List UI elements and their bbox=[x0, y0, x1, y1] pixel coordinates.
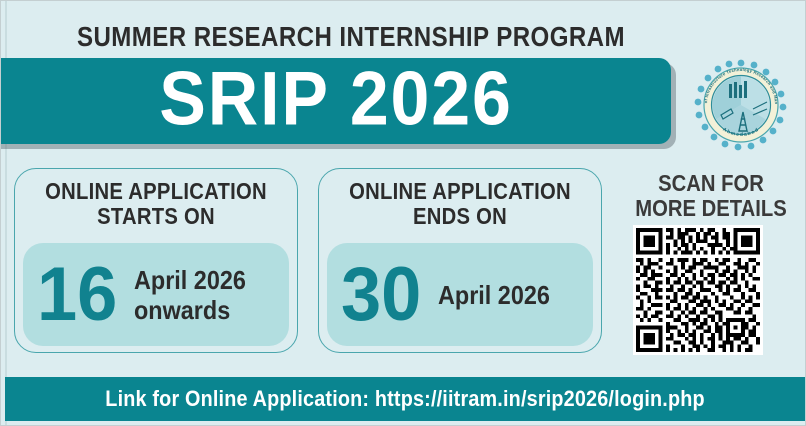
application-end-date-panel: 30 April 2026 bbox=[327, 243, 593, 346]
scan-for-details-label: SCAN FOR MORE DETAILS bbox=[630, 171, 792, 221]
application-end-heading: ONLINE APPLICATION ENDS ON bbox=[345, 179, 576, 229]
application-start-date-panel: 16 April 2026 onwards bbox=[23, 243, 289, 346]
srip-banner: SRIP 2026 bbox=[0, 58, 671, 144]
application-start-month-year: April 2026 onwards bbox=[134, 265, 246, 325]
footer-bar: Link for Online Application: https://iit… bbox=[5, 377, 805, 421]
page-title: SUMMER RESEARCH INTERNSHIP PROGRAM bbox=[50, 21, 652, 53]
application-link[interactable]: Link for Online Application: https://iit… bbox=[105, 386, 704, 412]
application-start-heading: ONLINE APPLICATION STARTS ON bbox=[41, 179, 272, 229]
banner-title: SRIP 2026 bbox=[28, 61, 644, 137]
qr-code-icon[interactable] bbox=[633, 225, 763, 355]
application-start-card: ONLINE APPLICATION STARTS ON 16 April 20… bbox=[14, 168, 298, 353]
srip-2026-poster: SUMMER RESEARCH INTERNSHIP PROGRAM SRIP … bbox=[0, 0, 806, 426]
application-end-card: ONLINE APPLICATION ENDS ON 30 April 2026 bbox=[318, 168, 602, 353]
application-end-day: 30 bbox=[341, 257, 421, 333]
application-end-month-year: April 2026 bbox=[438, 280, 550, 310]
application-start-day: 16 bbox=[37, 257, 117, 333]
iitram-logo-icon: Institute of Infrastructure Technology R… bbox=[693, 57, 789, 153]
